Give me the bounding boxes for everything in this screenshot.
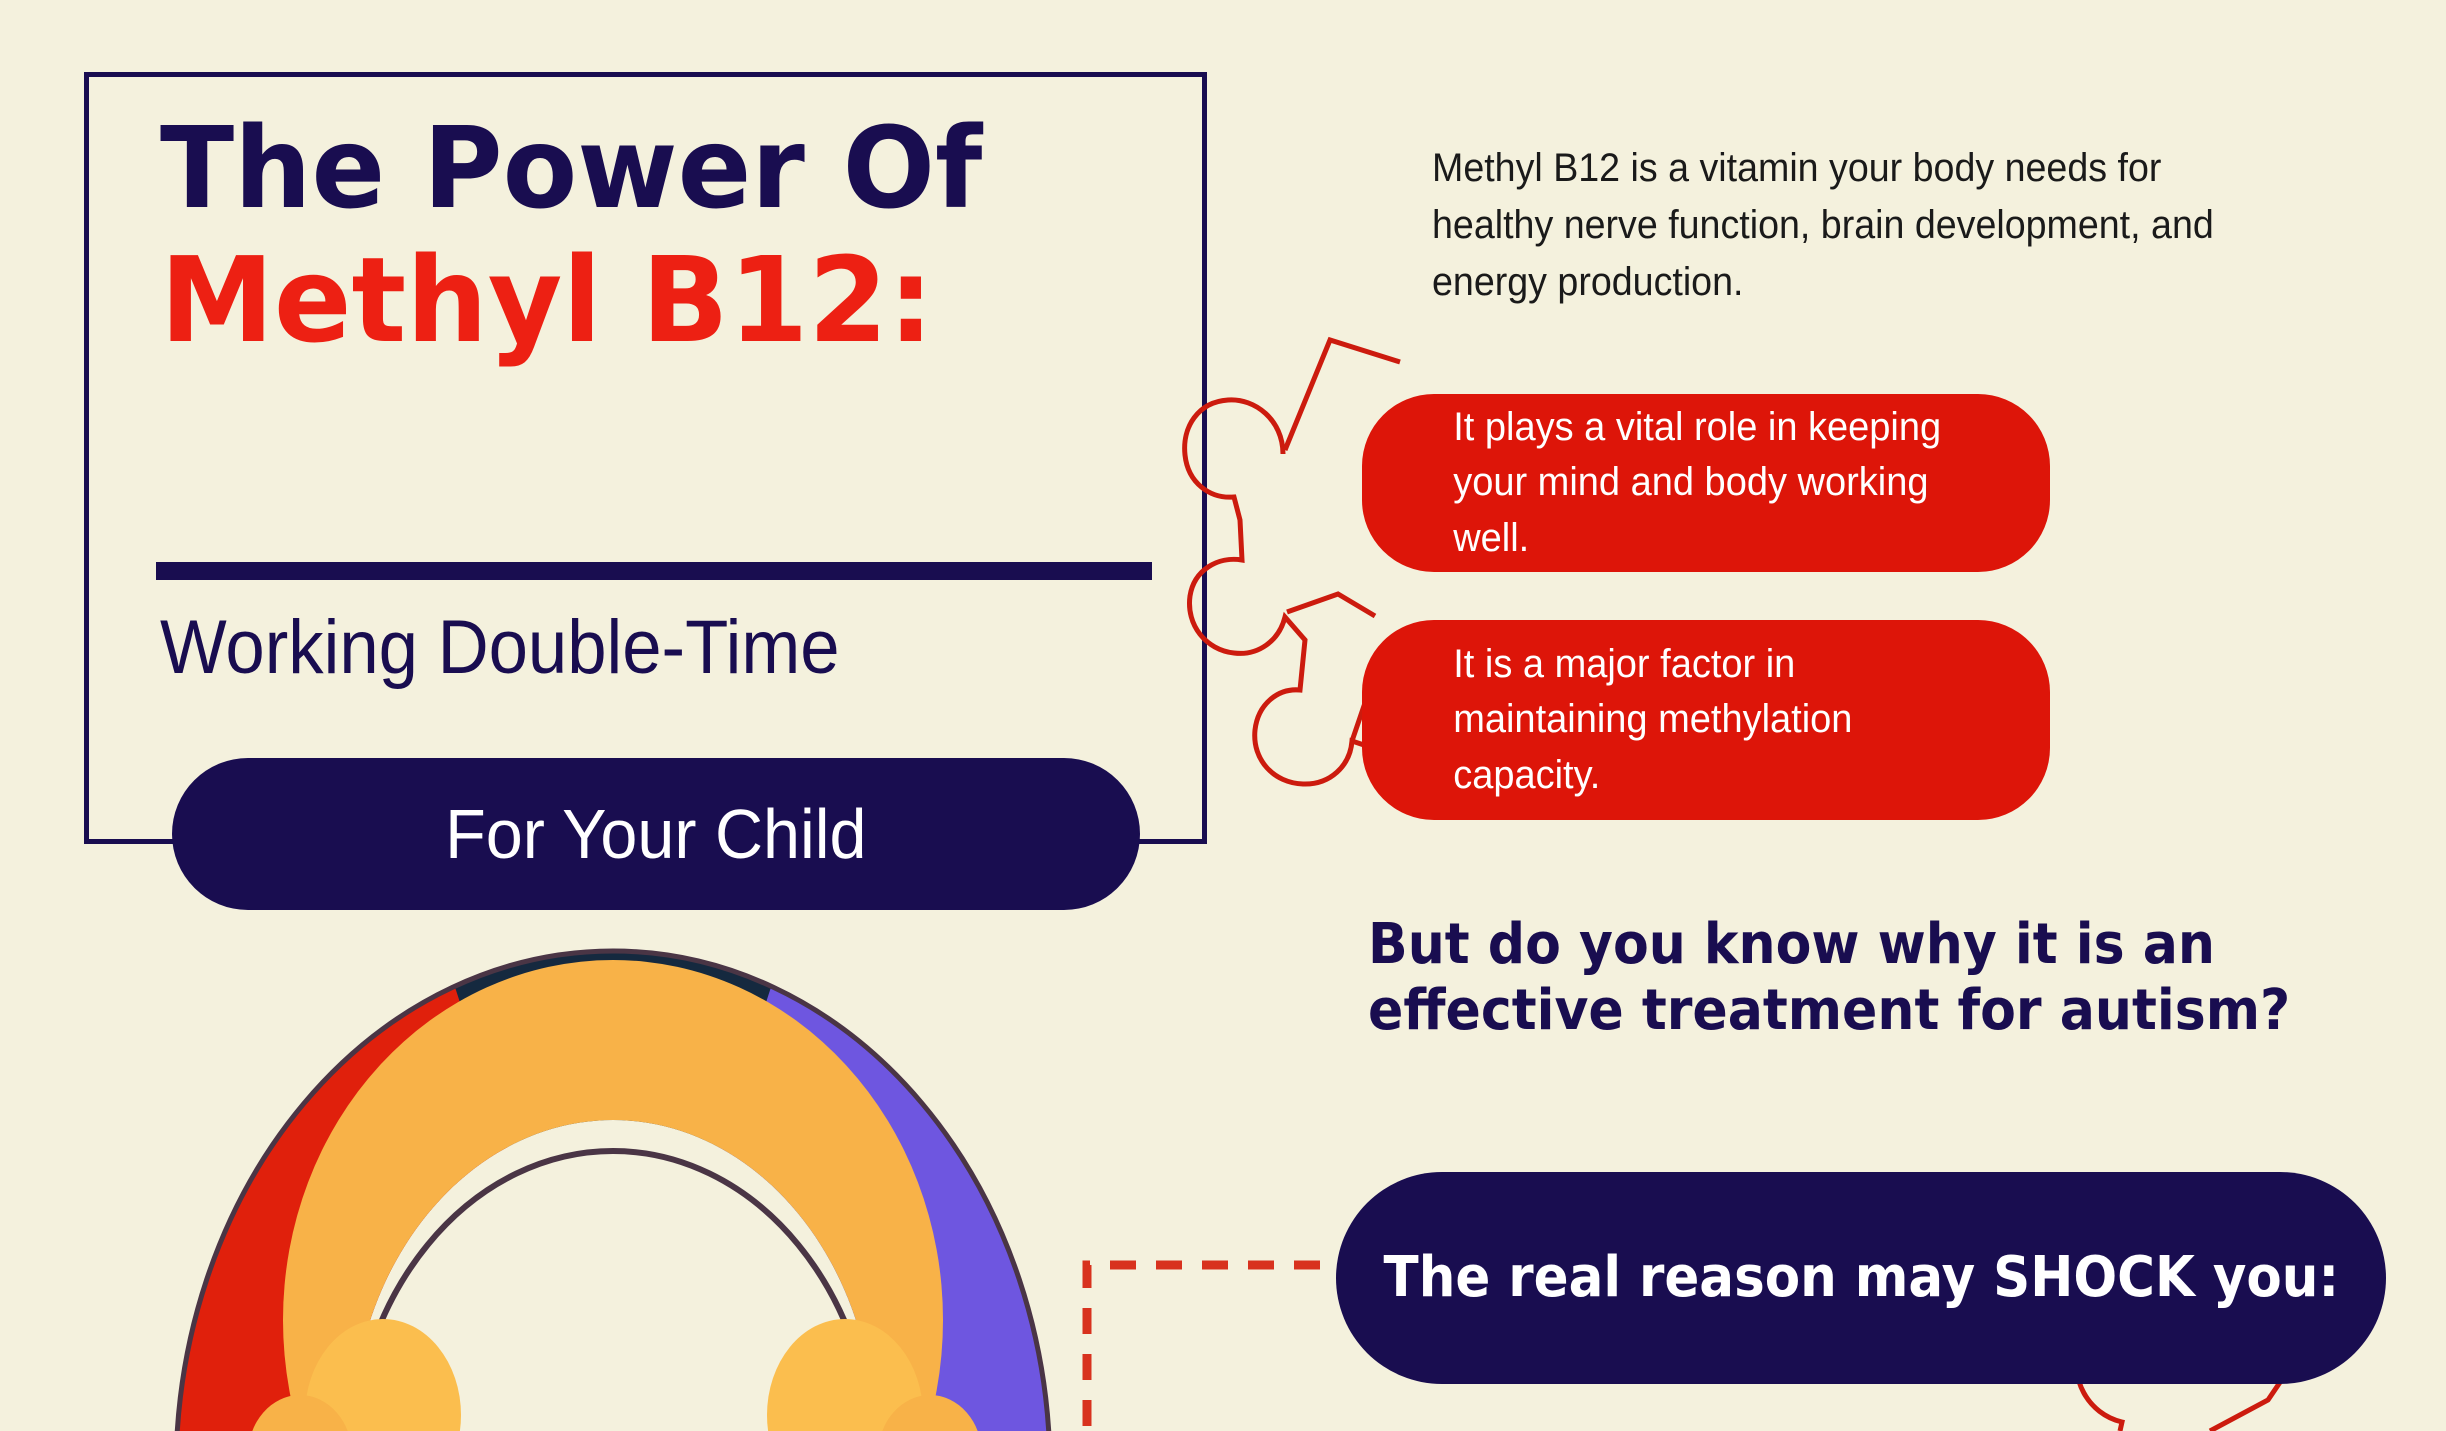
page-subtitle: Working Double-Time xyxy=(160,610,1127,686)
autism-question-heading: But do you know why it is an effective t… xyxy=(1368,912,2307,1044)
ring-inner-hole xyxy=(351,1151,875,1431)
shock-callout-label: The real reason may SHOCK you: xyxy=(1383,1250,2339,1306)
page-title-line-1: The Power Of xyxy=(160,112,1140,226)
ring-segment-orange xyxy=(283,960,943,1431)
title-divider xyxy=(156,562,1152,580)
for-your-child-badge: For Your Child xyxy=(172,758,1140,910)
ring-segment-red xyxy=(176,880,613,1431)
fact-card-1: It plays a vital role in keeping your mi… xyxy=(1362,394,2050,572)
shock-callout-badge: The real reason may SHOCK you: xyxy=(1336,1172,2386,1384)
for-your-child-label: For Your Child xyxy=(445,799,866,869)
ring-inner-petals xyxy=(248,1319,982,1431)
ring-outer-edge xyxy=(176,951,1050,1431)
infographic-canvas: The Power Of Methyl B12: Working Double-… xyxy=(0,0,2446,1431)
intro-paragraph: Methyl B12 is a vitamin your body needs … xyxy=(1432,140,2259,310)
fact-card-2: It is a major factor in maintaining meth… xyxy=(1362,620,2050,820)
ring-segment-purple xyxy=(613,880,1050,1431)
fact-card-2-text: It is a major factor in maintaining meth… xyxy=(1362,637,2016,803)
fact-card-1-text: It plays a vital role in keeping your mi… xyxy=(1362,400,2016,566)
ring-segment-dark xyxy=(176,951,1050,1431)
page-title-line-2: Methyl B12: xyxy=(160,240,1140,360)
red-dashed-connector-icon xyxy=(1087,1265,1320,1431)
